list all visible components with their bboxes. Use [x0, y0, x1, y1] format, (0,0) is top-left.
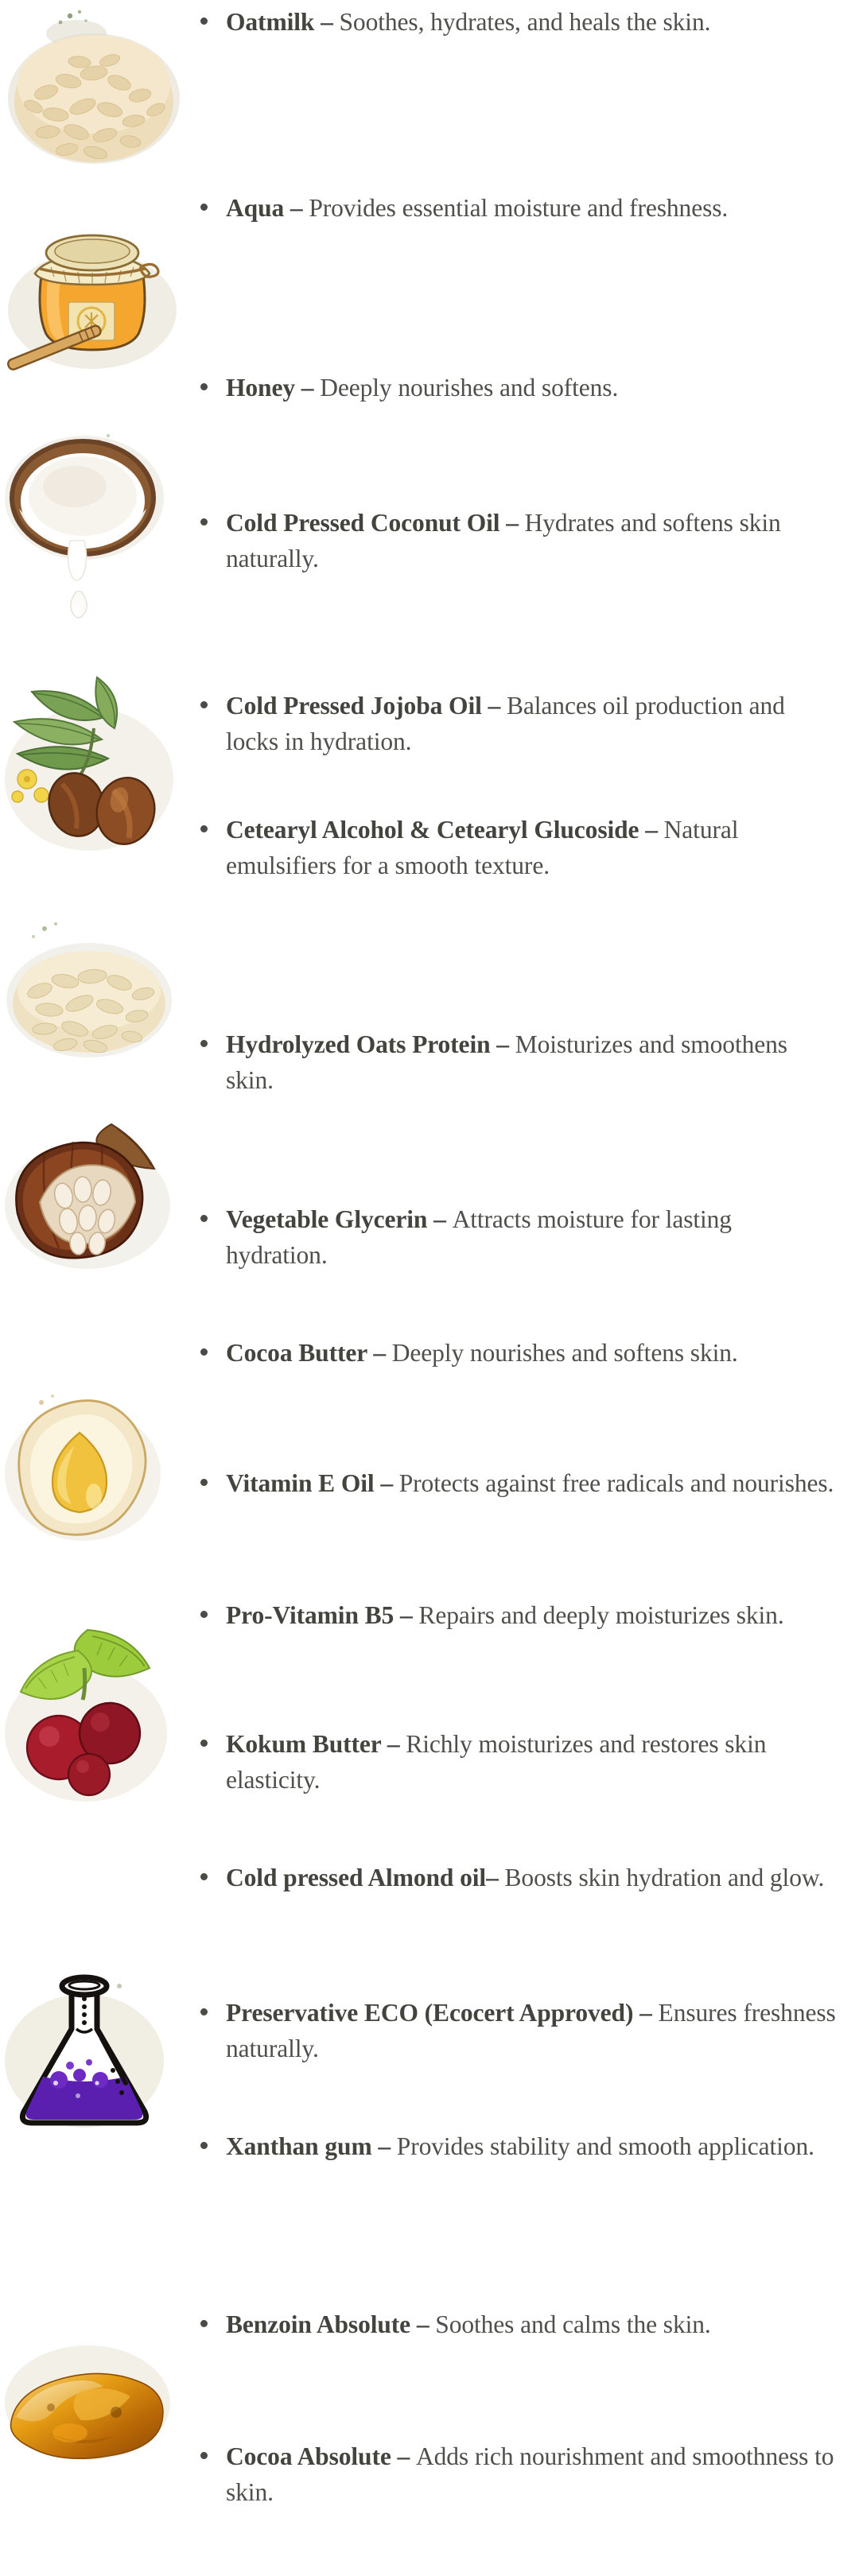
list-item: Xanthan gum – Provides stability and smo… [185, 2129, 837, 2165]
list-item: Vegetable Glycerin – Attracts moisture f… [185, 1202, 837, 1273]
ingredient-name: Vegetable Glycerin [226, 1205, 427, 1233]
ingredient-name: Cetearyl Alcohol & Cetearyl Glucoside [226, 816, 639, 844]
kokum-fruit-with-leaves-icon [0, 1622, 188, 1806]
ingredient-separator: – [367, 1339, 392, 1367]
honey-jar-with-dipper-icon [0, 191, 188, 375]
ingredient-description: Provides stability and smooth applicatio… [397, 2132, 814, 2160]
ingredient-separator: – [491, 1030, 515, 1058]
bullet-icon [200, 2008, 208, 2015]
bullet-icon [200, 1740, 208, 1747]
bullet-icon [200, 383, 208, 390]
ingredient-name: Oatmilk [226, 8, 314, 36]
coconut-half-with-milk-drip-icon [0, 421, 180, 638]
erlenmeyer-flask-purple-liquid-icon [0, 1940, 177, 2140]
list-item: Pro-Vitamin B5 – Repairs and deeply mois… [185, 1598, 837, 1634]
ingredient-separator: – [295, 374, 320, 402]
list-item: Vitamin E Oil – Protects against free ra… [185, 1466, 837, 1502]
ingredient-separator: – [482, 692, 507, 720]
list-item: Kokum Butter – Richly moisturizes and re… [185, 1727, 837, 1798]
ingredient-separator: – [284, 194, 309, 222]
ingredient-name: Pro-Vitamin B5 [226, 1601, 394, 1629]
bullet-icon [200, 2320, 208, 2327]
jojoba-plant-with-seeds-icon [0, 660, 196, 860]
list-item: Cold Pressed Jojoba Oil – Balances oil p… [185, 689, 837, 759]
ingredient-name: Benzoin Absolute [226, 2310, 410, 2338]
ingredient-list: Oatmilk – Soothes, hydrates, and heals t… [185, 0, 859, 2576]
ingredient-description: Provides essential moisture and freshnes… [309, 194, 728, 222]
ingredient-name: Xanthan gum [226, 2132, 372, 2160]
illustration-column [0, 0, 199, 2576]
ingredient-name: Hydrolyzed Oats Protein [226, 1030, 491, 1058]
ingredient-name: Honey [226, 374, 295, 402]
list-item: Oatmilk – Soothes, hydrates, and heals t… [185, 5, 837, 41]
oat-flakes-pile-icon [0, 5, 188, 173]
bullet-icon [200, 17, 208, 25]
ingredient-separator: – [410, 2310, 435, 2338]
list-item: Hydrolyzed Oats Protein – Moisturizes an… [185, 1027, 837, 1098]
ingredient-description: Deeply nourishes and softens skin. [392, 1339, 738, 1367]
ingredient-description: Soothes and calms the skin. [435, 2310, 710, 2338]
ingredient-separator: – [486, 1864, 504, 1891]
list-item: Aqua – Provides essential moisture and f… [185, 191, 837, 227]
ingredient-description: Repairs and deeply moisturizes skin. [418, 1601, 783, 1629]
bullet-icon [200, 1348, 208, 1356]
bullet-icon [200, 1873, 208, 1880]
bullet-icon [200, 204, 208, 211]
ingredient-separator: – [394, 1601, 418, 1629]
bullet-icon [200, 1215, 208, 1222]
cocoa-pod-with-beans-icon [0, 1113, 188, 1290]
list-item: Cold Pressed Coconut Oil – Hydrates and … [185, 506, 837, 576]
ingredient-separator: – [427, 1205, 452, 1233]
ingredient-name: Aqua [226, 194, 284, 222]
ingredient-name: Preservative ECO (Ecocert Approved) [226, 1999, 633, 2027]
ingredient-description: Boosts skin hydration and glow. [505, 1864, 825, 1891]
ingredient-name: Cocoa Butter [226, 1339, 367, 1367]
bullet-icon [200, 701, 208, 708]
ingredient-separator: – [375, 1469, 399, 1497]
ingredient-separator: – [499, 509, 524, 537]
bullet-icon [200, 825, 208, 832]
ingredient-name: Cold pressed Almond oil [226, 1864, 486, 1891]
ingredient-name: Vitamin E Oil [226, 1469, 375, 1497]
ingredient-description: Soothes, hydrates, and heals the skin. [340, 8, 711, 36]
list-item: Preservative ECO (Ecocert Approved) – En… [185, 1996, 837, 2066]
benzoin-amber-resin-icon [0, 2306, 188, 2474]
bullet-icon [200, 1479, 208, 1486]
ingredient-name: Kokum Butter [226, 1730, 381, 1758]
ingredient-description: Deeply nourishes and softens. [320, 374, 618, 402]
ingredient-name: Cold Pressed Jojoba Oil [226, 692, 482, 720]
ingredient-separator: – [314, 8, 339, 36]
list-item: Cold pressed Almond oil– Boosts skin hyd… [185, 1860, 837, 1896]
list-item: Cetearyl Alcohol & Cetearyl Glucoside – … [185, 813, 837, 883]
list-item: Cocoa Absolute – Adds rich nourishment a… [185, 2439, 837, 2510]
ingredient-separator: – [633, 1999, 658, 2027]
list-item: Cocoa Butter – Deeply nourishes and soft… [185, 1336, 837, 1371]
rolled-oats-heap-icon [0, 914, 188, 1067]
bullet-icon [200, 1040, 208, 1047]
ingredient-separator: – [639, 816, 663, 844]
bullet-icon [200, 2142, 208, 2149]
bullet-icon [200, 518, 208, 526]
shea-kokum-butter-nut-icon [0, 1383, 177, 1560]
list-item: Benzoin Absolute – Soothes and calms the… [185, 2307, 837, 2343]
ingredient-name: Cold Pressed Coconut Oil [226, 509, 499, 537]
ingredient-separator: – [381, 1730, 406, 1758]
ingredient-separator: – [391, 2442, 416, 2470]
bullet-icon [200, 1611, 208, 1618]
ingredient-description: Protects against free radicals and nouri… [399, 1469, 834, 1497]
ingredient-separator: – [372, 2132, 397, 2160]
list-item: Honey – Deeply nourishes and softens. [185, 370, 837, 406]
ingredient-name: Cocoa Absolute [226, 2442, 391, 2470]
bullet-icon [200, 2452, 208, 2459]
